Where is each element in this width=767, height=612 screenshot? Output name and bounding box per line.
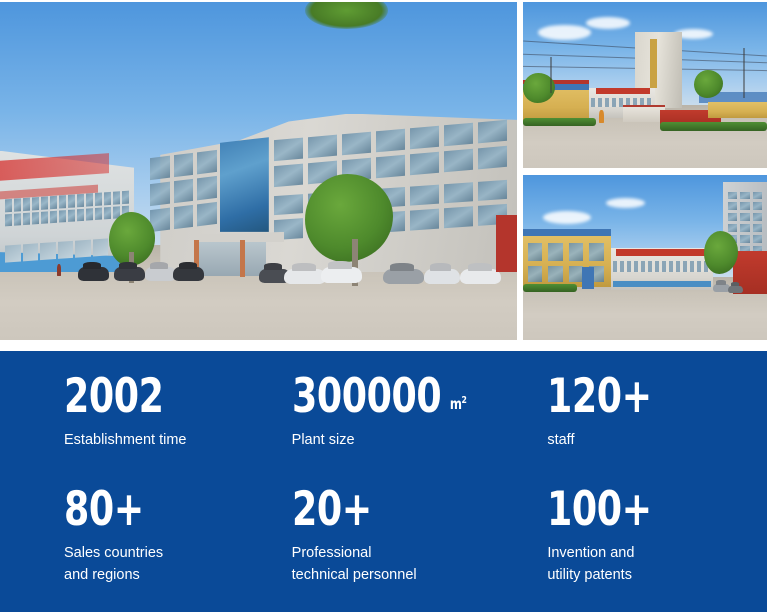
utility-pole xyxy=(550,57,552,94)
parked-car xyxy=(321,267,362,282)
unit-superscript: 2 xyxy=(461,395,466,406)
stats-grid: 2002 Establishment time 300000 m2 Plant … xyxy=(0,351,767,612)
parked-car xyxy=(114,267,145,281)
workshop-yard-photo[interactable] xyxy=(523,175,767,340)
company-profile-page: 2002 Establishment time 300000 m2 Plant … xyxy=(0,0,767,612)
red-wall-right xyxy=(496,215,517,272)
stat-item-establishment-time: 2002 Establishment time xyxy=(0,375,256,488)
stat-label: Plant size xyxy=(292,429,512,451)
parked-car xyxy=(728,286,743,293)
workshop-roof-left xyxy=(523,229,611,236)
far-workshop-wall xyxy=(708,102,767,119)
pedestrian xyxy=(57,264,61,276)
unit-text: m xyxy=(449,395,461,413)
stat-label: staff xyxy=(547,429,767,451)
notice-board xyxy=(623,105,664,122)
stat-number: 300000 xyxy=(292,375,441,419)
parked-car xyxy=(145,267,176,281)
pedestrian xyxy=(599,110,604,123)
workshop-door-left xyxy=(582,267,594,288)
stat-label: Sales countries and regions xyxy=(64,542,256,587)
stat-unit: m2 xyxy=(449,397,466,412)
glass-curtain-wall xyxy=(220,137,269,232)
company-stats-panel: 2002 Establishment time 300000 m2 Plant … xyxy=(0,351,767,612)
cloud xyxy=(606,198,645,208)
workshop-base-band xyxy=(613,281,711,288)
workshop-banner xyxy=(616,249,706,256)
stat-item-sales-countries: 80+ Sales countries and regions xyxy=(0,488,256,601)
tower-vertical-signage xyxy=(650,39,657,89)
stat-number: 100+ xyxy=(547,488,652,532)
stat-number: 20+ xyxy=(292,488,372,532)
office-building-scene xyxy=(0,2,517,340)
stat-value: 20+ xyxy=(292,488,481,532)
stat-label: Establishment time xyxy=(64,429,256,451)
stat-number: 2002 xyxy=(64,375,163,419)
cloud xyxy=(586,17,630,29)
stat-value: 2002 xyxy=(64,375,229,419)
workshop-yard-scene xyxy=(523,175,767,340)
utility-pole xyxy=(743,48,745,98)
stat-number: 80+ xyxy=(64,488,144,532)
main-entrance-doors xyxy=(199,242,266,276)
workshop-windows-left xyxy=(528,243,604,261)
parked-car xyxy=(173,267,204,281)
workshop-window-strip xyxy=(613,261,711,273)
office-building-windows-left-wing xyxy=(150,150,217,233)
parked-car xyxy=(424,269,460,284)
stat-value: 80+ xyxy=(64,488,229,532)
stat-number: 120+ xyxy=(547,375,652,419)
parked-car xyxy=(460,269,501,284)
stat-value: 300000 m2 xyxy=(292,375,481,419)
stat-item-technical-personnel: 20+ Professional technical personnel xyxy=(256,488,512,601)
factory-banner xyxy=(596,88,650,94)
hedge-row xyxy=(660,122,767,132)
parked-car xyxy=(78,267,109,281)
stat-item-plant-size: 300000 m2 Plant size xyxy=(256,375,512,488)
entrance-pillar-right xyxy=(240,240,245,277)
parked-car xyxy=(383,269,424,284)
stat-item-patents: 100+ Invention and utility patents xyxy=(511,488,767,601)
main-office-building-photo[interactable] xyxy=(0,2,517,340)
hedge-row xyxy=(523,118,596,126)
stat-value: 120+ xyxy=(547,375,736,419)
factory-entrance-photo[interactable] xyxy=(523,2,767,168)
photo-gallery xyxy=(0,0,767,341)
parked-car xyxy=(284,269,325,284)
factory-entrance-scene xyxy=(523,2,767,168)
stat-label: Professional technical personnel xyxy=(292,542,512,587)
stat-item-staff: 120+ staff xyxy=(511,375,767,488)
stat-label: Invention and utility patents xyxy=(547,542,767,587)
stat-value: 100+ xyxy=(547,488,736,532)
hedge-row xyxy=(523,284,577,292)
